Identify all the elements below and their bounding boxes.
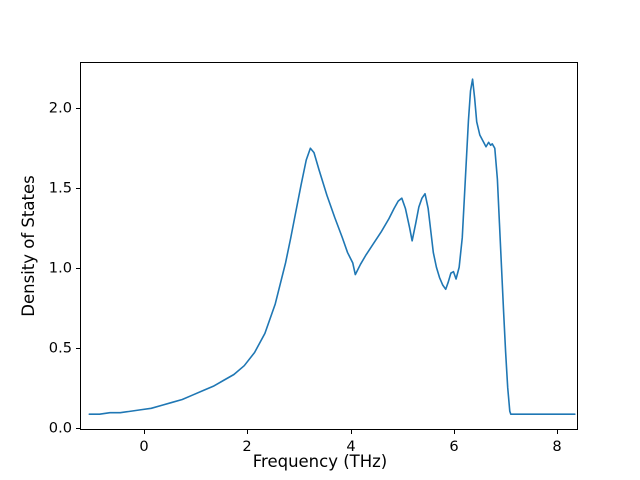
xtick-mark-1 (247, 430, 248, 434)
ytick-mark-0 (76, 428, 80, 429)
dos-line-plot (81, 63, 579, 431)
ytick-mark-4 (76, 108, 80, 109)
xtick-mark-2 (351, 430, 352, 434)
dos-curve (89, 79, 575, 414)
plot-area (80, 62, 578, 430)
xtick-mark-0 (144, 430, 145, 434)
figure-canvas: 0.0 0.5 1.0 1.5 2.0 0 2 4 6 8 Frequency … (0, 0, 640, 480)
ytick-mark-1 (76, 348, 80, 349)
xtick-mark-4 (557, 430, 558, 434)
ytick-mark-2 (76, 268, 80, 269)
xtick-mark-3 (454, 430, 455, 434)
y-axis-label: Density of States (18, 62, 40, 430)
ytick-mark-3 (76, 188, 80, 189)
x-axis-label: Frequency (THz) (0, 452, 640, 471)
